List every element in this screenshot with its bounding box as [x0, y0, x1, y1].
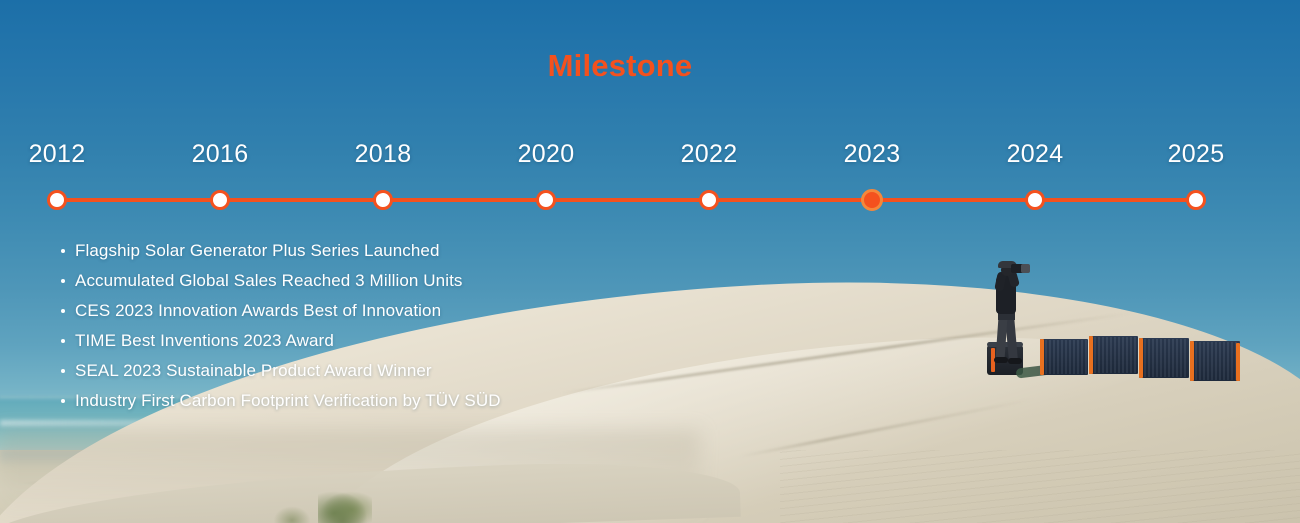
milestone-list: Flagship Solar Generator Plus Series Lau…	[56, 236, 696, 416]
timeline-year-label: 2023	[812, 140, 932, 169]
list-item: Industry First Carbon Footprint Verifica…	[56, 386, 696, 416]
timeline-year-label: 2012	[0, 140, 117, 169]
timeline-dot-active[interactable]	[861, 189, 883, 211]
timeline-year-label: 2016	[160, 140, 280, 169]
list-item-text: CES 2023 Innovation Awards Best of Innov…	[75, 301, 441, 320]
list-item: Accumulated Global Sales Reached 3 Milli…	[56, 266, 696, 296]
timeline-dot[interactable]	[373, 190, 393, 210]
bullet-dot-icon	[61, 339, 65, 343]
page-title: Milestone	[0, 48, 1240, 84]
timeline-year-label: 2024	[975, 140, 1095, 169]
timeline-year-label: 2025	[1136, 140, 1256, 169]
bullet-dot-icon	[61, 279, 65, 283]
list-item: Flagship Solar Generator Plus Series Lau…	[56, 236, 696, 266]
timeline-year-label: 2022	[649, 140, 769, 169]
list-item: CES 2023 Innovation Awards Best of Innov…	[56, 296, 696, 326]
milestone-banner: Milestone 2012 2016 2018 2020 2022	[0, 0, 1300, 523]
bullet-dot-icon	[61, 309, 65, 313]
timeline-dot[interactable]	[47, 190, 67, 210]
timeline-dot[interactable]	[1025, 190, 1045, 210]
list-item-text: TIME Best Inventions 2023 Award	[75, 331, 334, 350]
list-item-text: Accumulated Global Sales Reached 3 Milli…	[75, 271, 463, 290]
timeline-dot[interactable]	[210, 190, 230, 210]
banner-content: Milestone 2012 2016 2018 2020 2022	[0, 0, 1300, 523]
list-item-text: Industry First Carbon Footprint Verifica…	[75, 391, 501, 410]
timeline-dot[interactable]	[536, 190, 556, 210]
bullet-dot-icon	[61, 369, 65, 373]
bullet-dot-icon	[61, 249, 65, 253]
bullet-dot-icon	[61, 399, 65, 403]
list-item: SEAL 2023 Sustainable Product Award Winn…	[56, 356, 696, 386]
list-item: TIME Best Inventions 2023 Award	[56, 326, 696, 356]
milestone-timeline: 2012 2016 2018 2020 2022 2023	[0, 140, 1300, 210]
timeline-dot[interactable]	[699, 190, 719, 210]
list-item-text: Flagship Solar Generator Plus Series Lau…	[75, 241, 440, 260]
timeline-year-label: 2018	[323, 140, 443, 169]
list-item-text: SEAL 2023 Sustainable Product Award Winn…	[75, 361, 432, 380]
timeline-dot[interactable]	[1186, 190, 1206, 210]
timeline-year-label: 2020	[486, 140, 606, 169]
